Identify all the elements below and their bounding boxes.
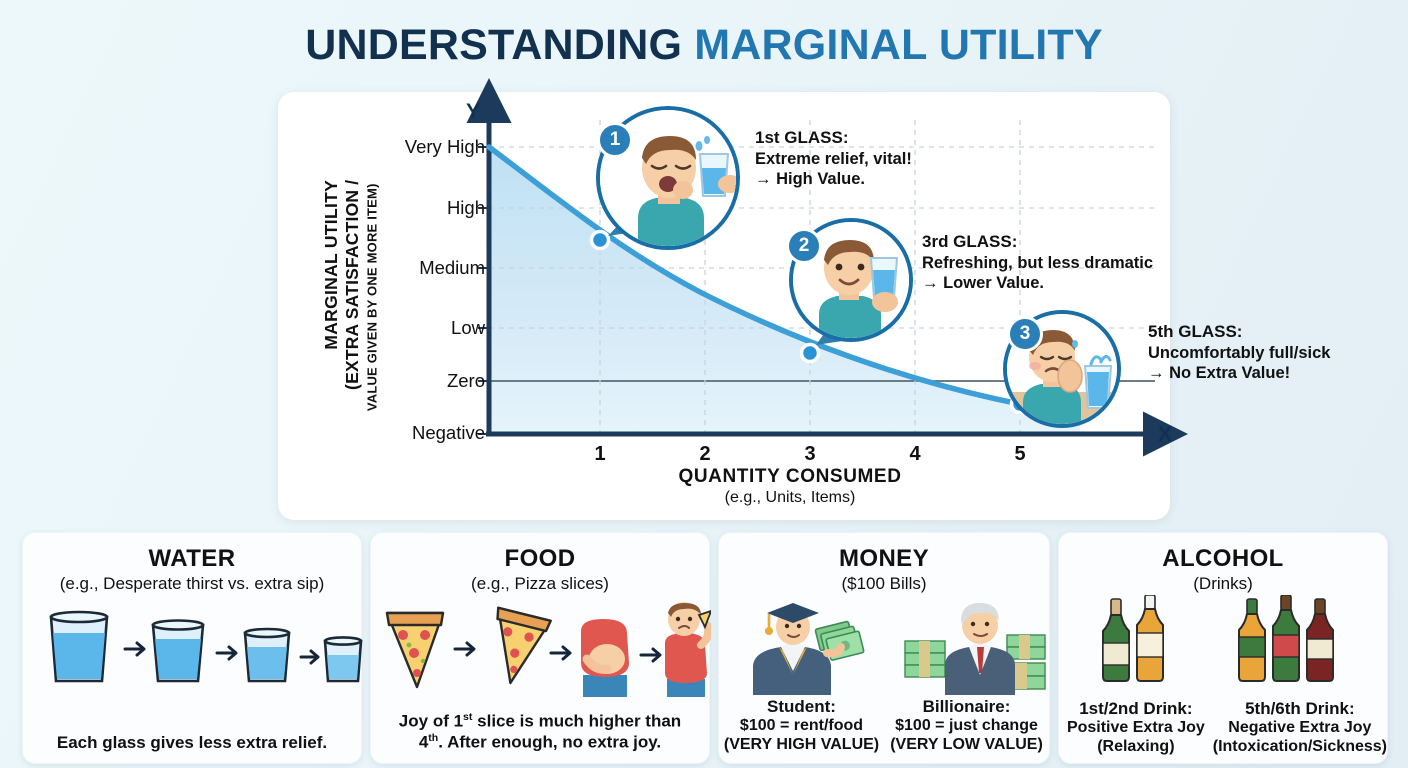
y-axis-title-line3: VALUE GIVEN BY ONE MORE ITEM) [366, 147, 381, 447]
callout-text-2: 3rd GLASS: Refreshing, but less dramatic… [922, 232, 1153, 293]
example-cards: WATER (e.g., Desperate thirst vs. extra … [0, 528, 1408, 768]
card-water-title: WATER [23, 545, 361, 573]
callout-2-line2: → Lower Value. [922, 273, 1153, 293]
card-money-billionaire-line1: $100 = just change [884, 717, 1049, 736]
card-food-subtitle: (e.g., Pizza slices) [371, 574, 709, 594]
y-tick-high: High [447, 197, 485, 219]
card-food-caption-p3: 4 [419, 733, 428, 752]
card-money-labels: Student: $100 = rent/food (VERY HIGH VAL… [719, 697, 1049, 755]
callout-badge-1: 1 [597, 122, 633, 158]
card-food[interactable]: FOOD (e.g., Pizza slices) [370, 532, 710, 764]
card-alcohol-early-label: 1st/2nd Drink: [1059, 699, 1213, 719]
y-axis-letter: Y [466, 100, 480, 124]
card-alcohol-title: ALCOHOL [1059, 545, 1387, 573]
y-axis-title: MARGINAL UTILITY (EXTRA SATISFACTION / V… [300, 125, 360, 425]
card-alcohol-late: 5th/6th Drink: Negative Extra Joy (Intox… [1213, 699, 1387, 757]
card-money-subtitle: ($100 Bills) [719, 574, 1049, 594]
card-alcohol-early-line1: Positive Extra Joy [1059, 719, 1213, 738]
card-alcohol-early: 1st/2nd Drink: Positive Extra Joy (Relax… [1059, 699, 1213, 757]
card-alcohol[interactable]: ALCOHOL (Drinks) [1058, 532, 1388, 764]
y-tick-low: Low [451, 317, 485, 339]
card-food-illustration [371, 601, 709, 693]
marginal-utility-chart: MARGINAL UTILITY (EXTRA SATISFACTION / V… [0, 0, 1408, 528]
card-food-caption-p2: slice is much higher than [472, 712, 681, 731]
card-alcohol-late-line2: (Intoxication/Sickness) [1213, 738, 1387, 757]
card-money-student: Student: $100 = rent/food (VERY HIGH VAL… [719, 697, 884, 755]
card-money-billionaire-label: Billionaire: [884, 697, 1049, 717]
y-axis-title-line2: (EXTRA SATISFACTION / [343, 135, 363, 435]
callout-badge-2: 2 [786, 228, 822, 264]
card-food-caption-p1: Joy of 1 [399, 712, 463, 731]
callout-text-1: 1st GLASS: Extreme relief, vital! → High… [755, 128, 912, 189]
callout-3-line2: → No Extra Value! [1148, 363, 1330, 383]
y-tick-very-high: Very High [405, 136, 485, 158]
x-tick-4: 4 [895, 443, 935, 466]
x-tick-3: 3 [790, 443, 830, 466]
card-alcohol-illustration [1059, 595, 1387, 685]
callout-3-head: 5th GLASS: [1148, 322, 1330, 343]
card-food-caption-p4: . After enough, no extra joy. [438, 733, 661, 752]
card-alcohol-subtitle: (Drinks) [1059, 574, 1387, 594]
card-alcohol-late-line1: Negative Extra Joy [1213, 719, 1387, 738]
card-water-caption: Each glass gives less extra relief. [23, 733, 361, 753]
y-tick-medium: Medium [419, 257, 485, 279]
card-alcohol-early-line2: (Relaxing) [1059, 738, 1213, 757]
callout-1-line1: Extreme relief, vital! [755, 149, 912, 169]
callout-badge-3: 3 [1007, 316, 1043, 352]
card-money-title: MONEY [719, 545, 1049, 573]
y-tick-negative: Negative [412, 422, 485, 444]
callout-2-line1: Refreshing, but less dramatic [922, 253, 1153, 273]
card-food-caption-sup2: th [428, 732, 438, 744]
card-food-title: FOOD [371, 545, 709, 573]
card-water-subtitle: (e.g., Desperate thirst vs. extra sip) [23, 574, 361, 594]
callout-1-line2: → High Value. [755, 169, 912, 189]
callout-3-line1: Uncomfortably full/sick [1148, 343, 1330, 363]
y-axis-tick-labels: Very High High Medium Low Zero Negative [380, 0, 485, 528]
x-tick-1: 1 [580, 443, 620, 466]
y-tick-zero: Zero [447, 370, 485, 392]
callout-1-head: 1st GLASS: [755, 128, 912, 149]
x-tick-2: 2 [685, 443, 725, 466]
card-money[interactable]: MONEY ($100 Bills) [718, 532, 1050, 764]
card-water-illustration [23, 601, 361, 693]
x-tick-5: 5 [1000, 443, 1040, 466]
card-money-student-label: Student: [719, 697, 884, 717]
card-money-billionaire: Billionaire: $100 = just change (VERY LO… [884, 697, 1049, 755]
callout-2-head: 3rd GLASS: [922, 232, 1153, 253]
x-axis-title: QUANTITY CONSUMED (e.g., Units, Items) [500, 466, 1080, 507]
y-axis-title-line1: MARGINAL UTILITY [322, 115, 342, 415]
card-water[interactable]: WATER (e.g., Desperate thirst vs. extra … [22, 532, 362, 764]
card-money-student-line2: (VERY HIGH VALUE) [719, 736, 884, 755]
card-money-illustration [719, 595, 1049, 695]
card-money-student-line1: $100 = rent/food [719, 717, 884, 736]
card-money-billionaire-line2: (VERY LOW VALUE) [884, 736, 1049, 755]
x-axis-letter: X [1158, 423, 1172, 447]
card-alcohol-late-label: 5th/6th Drink: [1213, 699, 1387, 719]
card-alcohol-labels: 1st/2nd Drink: Positive Extra Joy (Relax… [1059, 699, 1387, 757]
x-axis-title-sub: (e.g., Units, Items) [500, 489, 1080, 507]
callout-text-3: 5th GLASS: Uncomfortably full/sick → No … [1148, 322, 1330, 383]
x-axis-title-main: QUANTITY CONSUMED [500, 466, 1080, 488]
card-food-caption: Joy of 1st slice is much higher than 4th… [371, 711, 709, 753]
